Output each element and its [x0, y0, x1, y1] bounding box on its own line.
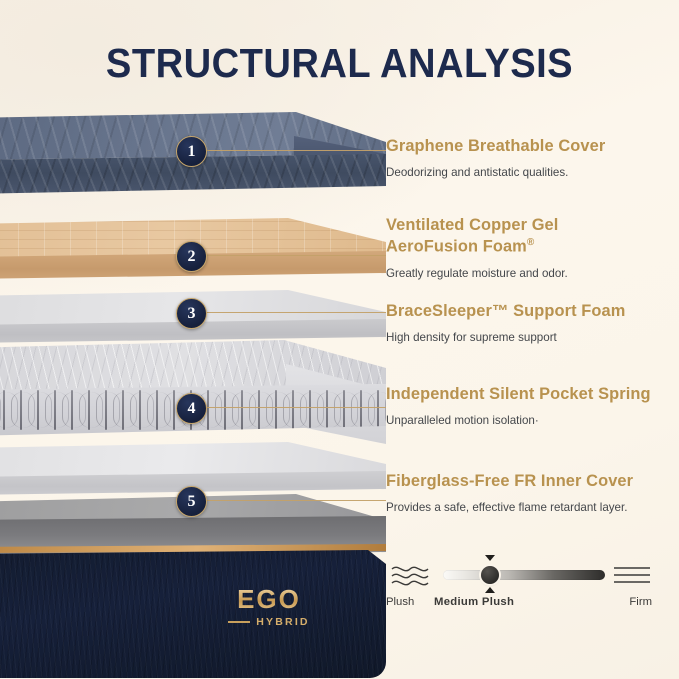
infographic-canvas: STRUCTURAL ANALYSIS — [0, 0, 679, 679]
layer-badge-1[interactable]: 1 — [176, 136, 207, 167]
straight-lines-icon — [612, 564, 652, 586]
feature-block-4: Independent Silent Pocket Spring Unparal… — [386, 384, 651, 429]
feature-2-heading: Ventilated Copper GelAeroFusion Foam® — [386, 215, 568, 258]
firmness-label-firm: Firm — [629, 596, 652, 608]
leader-line-5 — [196, 500, 386, 501]
feature-block-1: Graphene Breathable Cover Deodorizing an… — [386, 136, 605, 181]
feature-3-heading: BraceSleeper™ Support Foam — [386, 301, 625, 322]
spring-coil — [105, 390, 107, 430]
layer-badge-4[interactable]: 4 — [176, 393, 207, 424]
firmness-track[interactable] — [443, 570, 605, 580]
page-title: STRUCTURAL ANALYSIS — [24, 40, 655, 87]
leader-line-2 — [196, 255, 386, 256]
mattress-base: EGO HYBRID — [0, 544, 386, 679]
spring-coil — [54, 390, 56, 430]
spring-coil — [292, 390, 294, 430]
spring-coil — [326, 390, 328, 430]
spring-coil — [207, 390, 209, 430]
feature-block-5: Fiberglass-Free FR Inner Cover Provides … — [386, 471, 633, 516]
logo-dash — [228, 621, 250, 622]
feature-4-heading: Independent Silent Pocket Spring — [386, 384, 651, 405]
wavy-lines-icon — [390, 562, 430, 588]
leader-line-4 — [196, 407, 386, 408]
spring-coil — [20, 390, 22, 430]
brand-sub: HYBRID — [256, 616, 309, 628]
firmness-scale: Plush Medium Plush Firm — [386, 556, 654, 616]
firmness-marker-bottom-icon — [485, 587, 495, 593]
spring-coil — [71, 390, 73, 430]
feature-3-description: High density for supreme support — [386, 330, 625, 346]
layer-badge-3[interactable]: 3 — [176, 298, 207, 329]
spring-coil — [139, 390, 141, 430]
spring-coil — [224, 390, 226, 430]
feature-block-2: Ventilated Copper GelAeroFusion Foam® Gr… — [386, 215, 568, 282]
spring-coil — [173, 390, 175, 430]
base-box-panel — [0, 550, 386, 678]
firmness-label-plush: Plush — [386, 596, 414, 608]
layer-badge-5[interactable]: 5 — [176, 486, 207, 517]
feature-1-description: Deodorizing and antistatic qualities. — [386, 165, 605, 181]
spring-coil — [241, 390, 243, 430]
registered-trademark-icon: ® — [527, 237, 534, 248]
spring-coil — [343, 390, 345, 430]
spring-coil — [275, 390, 277, 430]
spring-coil — [360, 390, 362, 430]
feature-4-description: Unparalleled motion isolation· — [386, 413, 651, 429]
feature-2-description: Greatly regulate moisture and odor. — [386, 266, 568, 282]
firmness-knob[interactable] — [481, 566, 499, 584]
spring-coil — [88, 390, 90, 430]
spring-coil — [122, 390, 124, 430]
spring-coil — [156, 390, 158, 430]
firmness-label-selected: Medium Plush — [434, 596, 514, 608]
feature-5-heading: Fiberglass-Free FR Inner Cover — [386, 471, 633, 492]
feature-block-3: BraceSleeper™ Support Foam High density … — [386, 301, 625, 346]
leader-line-1 — [196, 150, 386, 151]
brand-name: EGO — [214, 586, 324, 612]
feature-2-heading-line1: Ventilated Copper Gel — [386, 216, 558, 234]
mattress-layer-stack: EGO HYBRID — [0, 112, 386, 622]
spring-coil — [3, 390, 5, 430]
feature-1-heading: Graphene Breathable Cover — [386, 136, 605, 157]
spring-coil — [309, 390, 311, 430]
brand-sub-row: HYBRID — [214, 616, 324, 628]
spring-coil — [377, 390, 379, 430]
spring-coil — [258, 390, 260, 430]
firmness-marker-top-icon — [485, 555, 495, 561]
feature-2-heading-line2: AeroFusion Foam — [386, 238, 527, 256]
brand-logo: EGO HYBRID — [214, 586, 324, 628]
spring-coil — [37, 390, 39, 430]
feature-5-description: Provides a safe, effective flame retarda… — [386, 500, 633, 516]
layer-badge-2[interactable]: 2 — [176, 241, 207, 272]
leader-line-3 — [196, 312, 386, 313]
